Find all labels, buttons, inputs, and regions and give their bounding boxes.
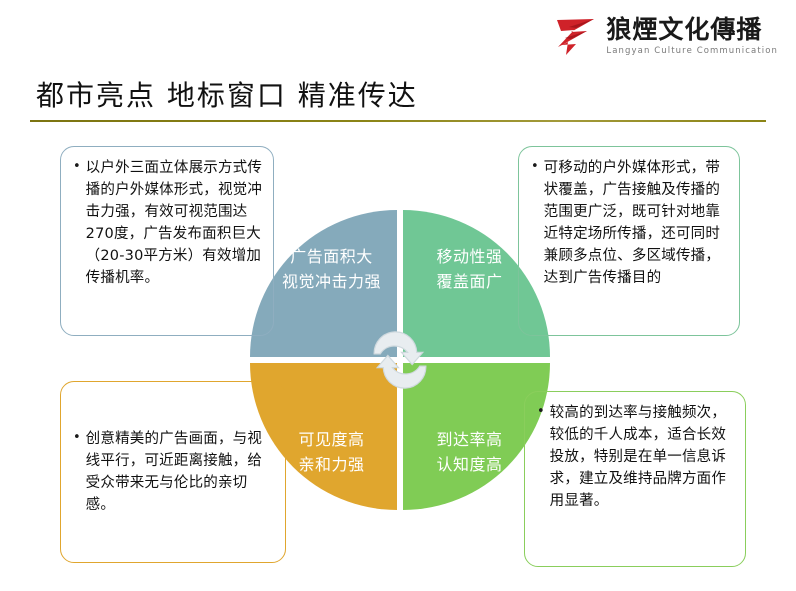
callout-bottom-left-text: 创意精美的广告画面，与视线平行，可近距离接触，给受众带来无与伦比的亲切感。 [86, 428, 275, 516]
callout-top-right: • 可移动的户外媒体形式，带状覆盖，广告接触及传播的范围更广泛，既可针对地靠近特… [518, 146, 740, 336]
callout-bottom-right-row: • 较高的到达率与接触频次，较低的千人成本，适合长效投放，特别是在单一信息诉求，… [525, 402, 745, 512]
logo-text-block: 狼煙文化傳播 Langyan Culture Communication [606, 17, 778, 56]
quadrant-top-right-line2: 覆盖面广 [436, 269, 502, 294]
langyan-flame-mark-icon [554, 14, 600, 58]
quadrant-top-right-line1: 移动性强 [436, 244, 502, 269]
callout-top-left: • 以户外三面立体展示方式传播的户外媒体形式，视觉冲击力强，有效可视范围达270… [60, 146, 274, 336]
quadrant-bottom-left-line2: 亲和力强 [298, 452, 364, 477]
quadrant-diagram: 广告面积大 视觉冲击力强 移动性强 覆盖面广 可见度高 亲和力强 到达率高 认知… [250, 210, 550, 510]
title-divider [30, 120, 766, 122]
bullet-icon: • [73, 157, 81, 177]
quadrant-top-left-line2: 视觉冲击力强 [282, 269, 381, 294]
quadrant-bottom-left-line1: 可见度高 [298, 427, 364, 452]
callout-bottom-right: • 较高的到达率与接触频次，较低的千人成本，适合长效投放，特别是在单一信息诉求，… [524, 391, 746, 567]
company-logo: 狼煙文化傳播 Langyan Culture Communication [554, 14, 778, 58]
callout-top-left-row: • 以户外三面立体展示方式传播的户外媒体形式，视觉冲击力强，有效可视范围达270… [61, 157, 273, 289]
quadrant-bottom-right-line2: 认知度高 [436, 452, 502, 477]
callout-top-right-text: 可移动的户外媒体形式，带状覆盖，广告接触及传播的范围更广泛，既可针对地靠近特定场… [544, 157, 729, 289]
slide-canvas: 狼煙文化傳播 Langyan Culture Communication 都市亮… [0, 0, 796, 591]
quadrant-top-left-line1: 广告面积大 [290, 244, 373, 269]
callout-top-right-row: • 可移动的户外媒体形式，带状覆盖，广告接触及传播的范围更广泛，既可针对地靠近特… [519, 157, 739, 289]
callout-bottom-right-text: 较高的到达率与接触频次，较低的千人成本，适合长效投放，特别是在单一信息诉求，建立… [550, 402, 735, 512]
callout-bottom-left: • 创意精美的广告画面，与视线平行，可近距离接触，给受众带来无与伦比的亲切感。 [60, 381, 286, 563]
logo-chinese-name: 狼煙文化傳播 [606, 17, 762, 42]
callout-top-left-text: 以户外三面立体展示方式传播的户外媒体形式，视觉冲击力强，有效可视范围达270度，… [86, 157, 263, 289]
bullet-icon: • [537, 402, 545, 422]
logo-english-name: Langyan Culture Communication [606, 47, 778, 56]
callout-bottom-left-row: • 创意精美的广告画面，与视线平行，可近距离接触，给受众带来无与伦比的亲切感。 [61, 428, 285, 516]
bullet-icon: • [73, 428, 81, 448]
quadrant-bottom-right-line1: 到达率高 [436, 427, 502, 452]
page-title: 都市亮点 地标窗口 精准传达 [36, 74, 418, 114]
bullet-icon: • [531, 157, 539, 177]
